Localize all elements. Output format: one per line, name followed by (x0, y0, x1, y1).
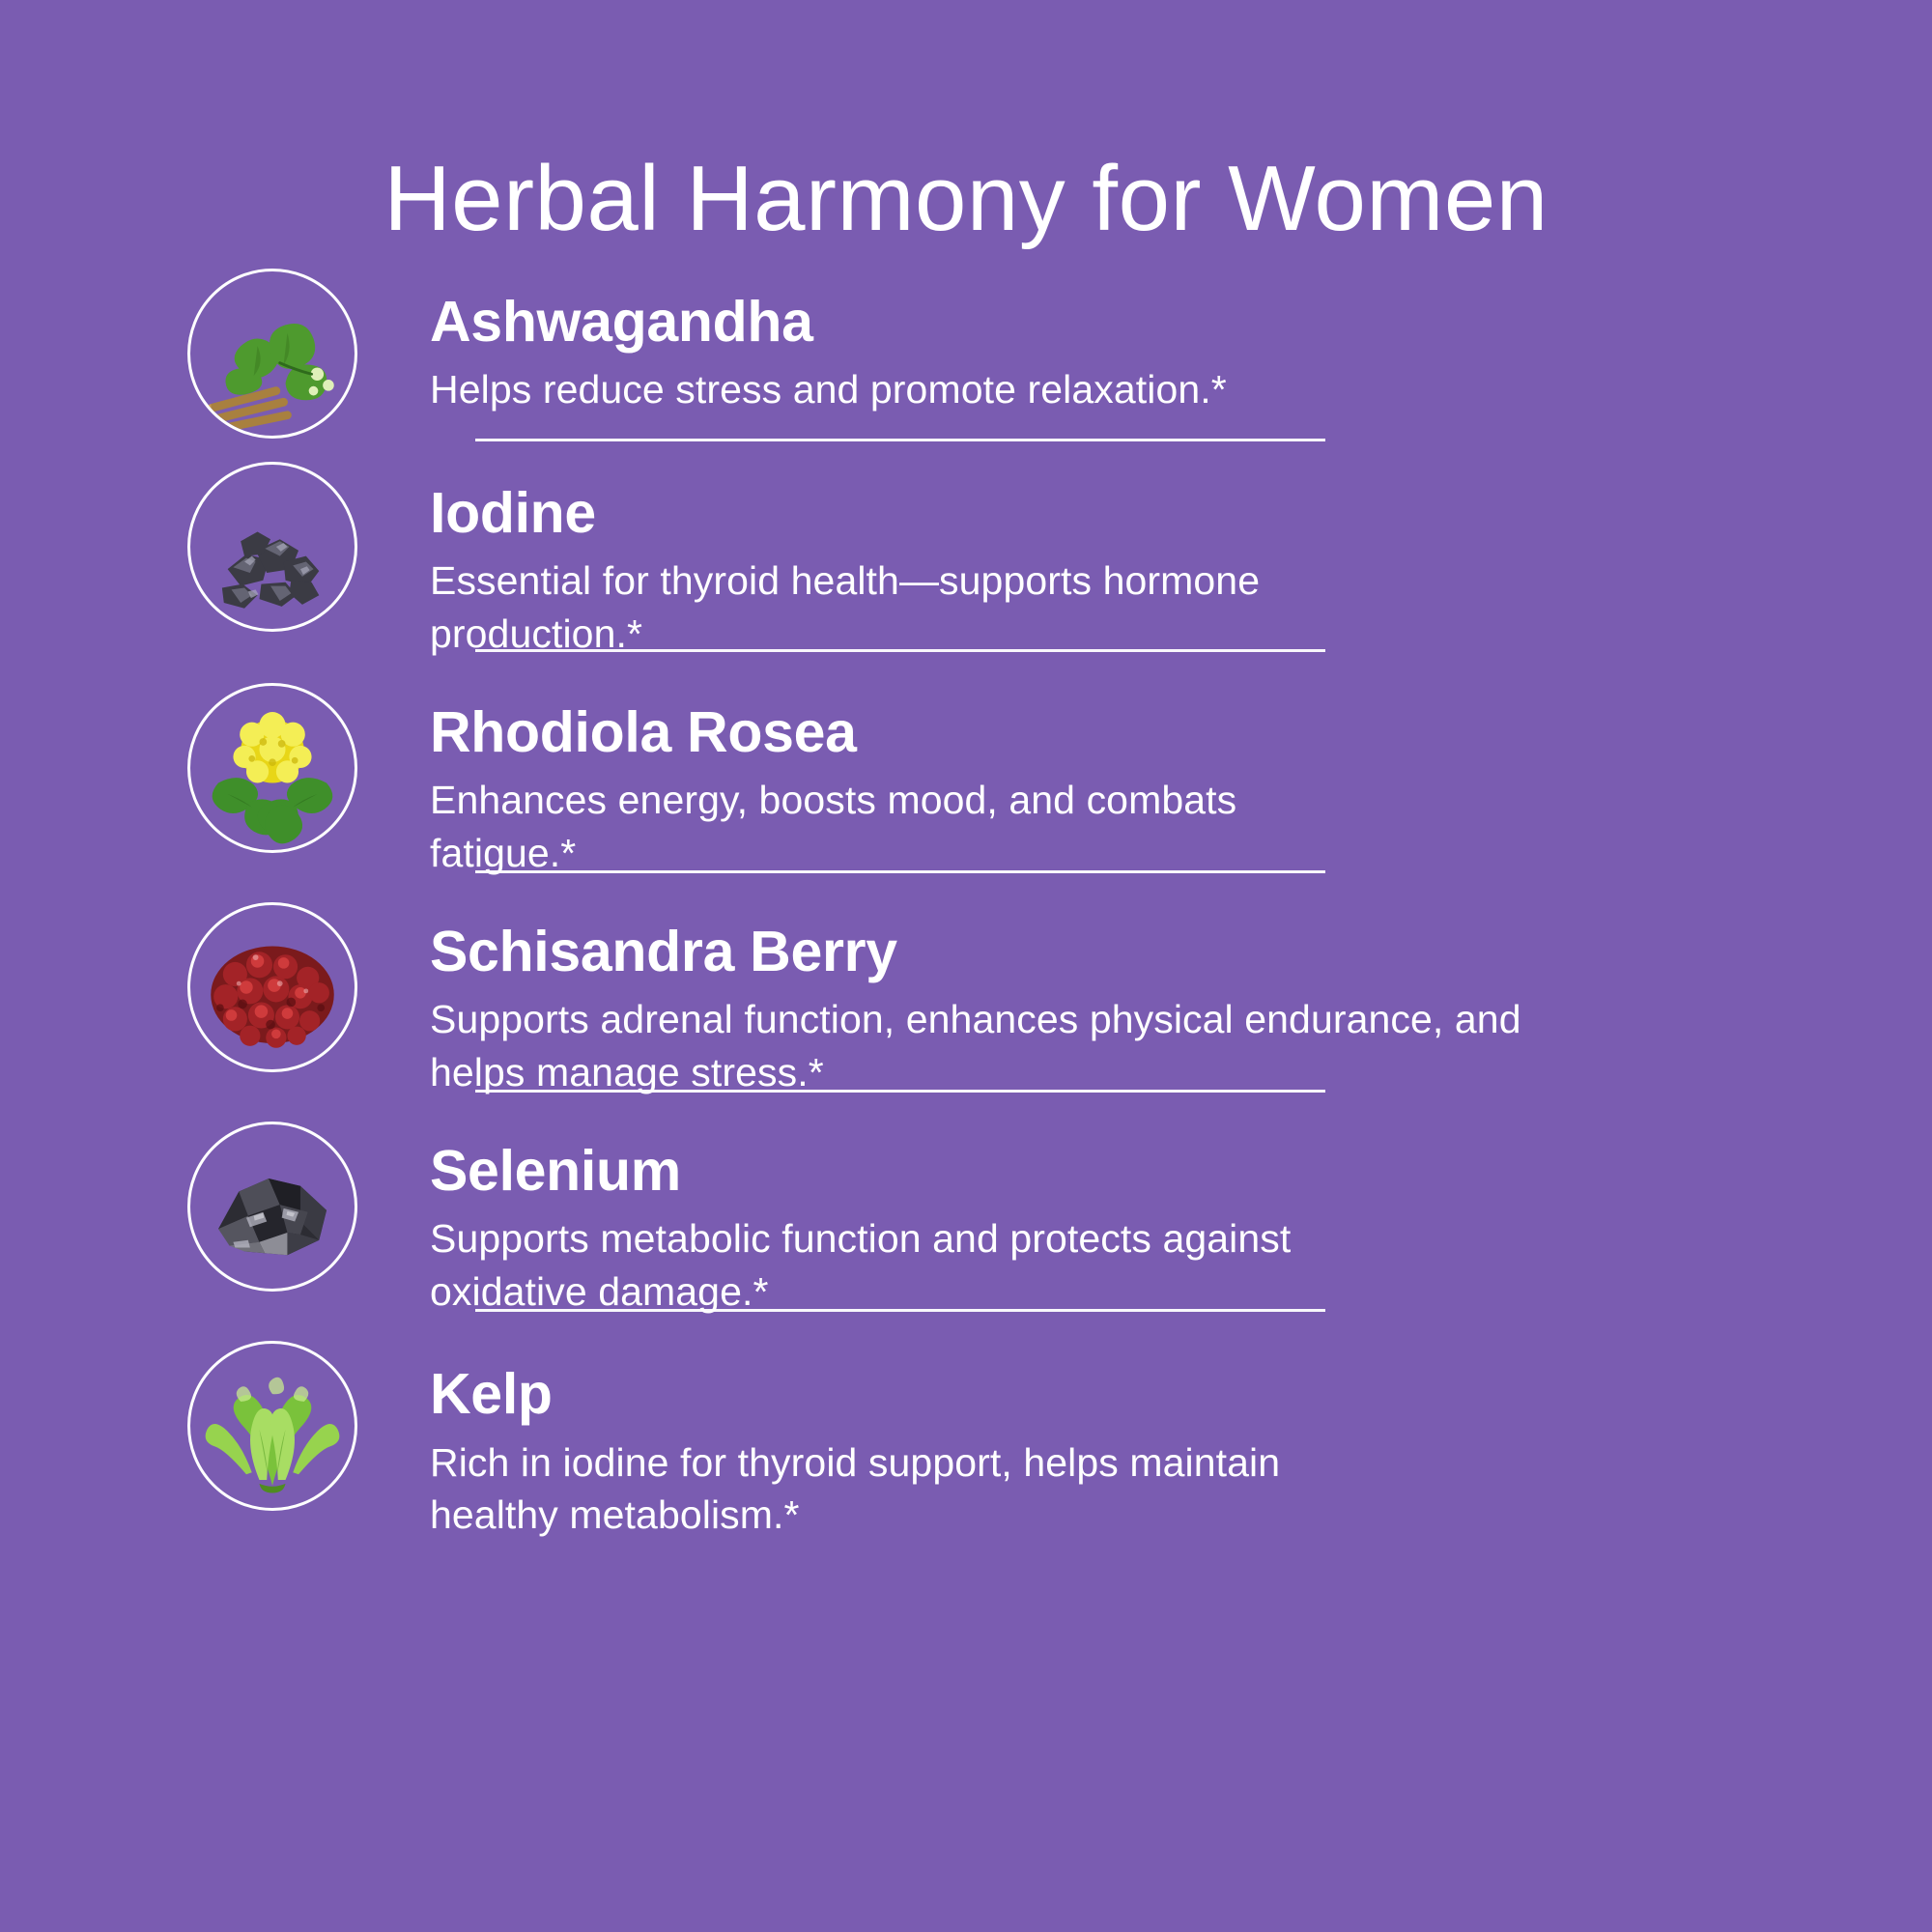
ashwagandha-art (190, 271, 355, 436)
row-divider (475, 1090, 1325, 1093)
kelp-art (190, 1344, 355, 1508)
ashwagandha-root-and-leaves-photo-icon (187, 269, 357, 439)
ingredient-icon-cell (187, 683, 357, 853)
ingredient-description: Rich in iodine for thyroid support, help… (430, 1436, 1406, 1542)
ingredient-name: Ashwagandha (430, 290, 1816, 354)
page-title: Herbal Harmony for Women (0, 151, 1932, 248)
ingredient-list: Ashwagandha Helps reduce stress and prom… (0, 269, 1932, 1542)
ingredient-name: Kelp (430, 1362, 1816, 1426)
row-divider (475, 1309, 1325, 1312)
ingredient-text-cell: Selenium Supports metabolic function and… (430, 1122, 1932, 1318)
row-divider (475, 649, 1325, 652)
rhodiola-art (190, 686, 355, 850)
ingredient-description: Helps reduce stress and promote relaxati… (430, 363, 1550, 416)
ingredient-text-cell: Kelp Rich in iodine for thyroid support,… (430, 1341, 1932, 1541)
ingredient-name: Iodine (430, 481, 1816, 545)
ingredient-text-cell: Ashwagandha Helps reduce stress and prom… (430, 269, 1932, 416)
iodine-art (190, 465, 355, 629)
ingredient-icon-cell (187, 1341, 357, 1511)
selenium-mineral-chunk-photo-icon (187, 1122, 357, 1292)
list-item: Schisandra Berry Supports adrenal functi… (0, 902, 1932, 1098)
row-divider (475, 439, 1325, 441)
schisandra-art (190, 905, 355, 1069)
iodine-crystals-photo-icon (187, 462, 357, 632)
ingredient-name: Rhodiola Rosea (430, 700, 1816, 764)
ingredient-name: Selenium (430, 1139, 1816, 1203)
ingredient-icon-cell (187, 462, 357, 632)
ingredient-text-cell: Schisandra Berry Supports adrenal functi… (430, 902, 1932, 1098)
selenium-art (190, 1124, 355, 1289)
ingredient-icon-cell (187, 1122, 357, 1292)
ingredient-name: Schisandra Berry (430, 920, 1816, 983)
schisandra-dried-red-berries-photo-icon (187, 902, 357, 1072)
list-item: Selenium Supports metabolic function and… (0, 1122, 1932, 1318)
kelp-green-seaweed-photo-icon (187, 1341, 357, 1511)
herbal-supplement-ingredient-poster: Herbal Harmony for Women (0, 0, 1932, 1932)
ingredient-icon-cell (187, 902, 357, 1072)
rhodiola-rosea-yellow-flower-photo-icon (187, 683, 357, 853)
ingredient-icon-cell (187, 269, 357, 439)
ingredient-description: Supports metabolic function and protects… (430, 1212, 1299, 1318)
list-item: Ashwagandha Helps reduce stress and prom… (0, 269, 1932, 439)
ingredient-description: Essential for thyroid health—supports ho… (430, 554, 1396, 660)
list-item: Kelp Rich in iodine for thyroid support,… (0, 1341, 1932, 1541)
ingredient-text-cell: Iodine Essential for thyroid health—supp… (430, 462, 1932, 660)
ingredient-text-cell: Rhodiola Rosea Enhances energy, boosts m… (430, 683, 1932, 879)
list-item: Iodine Essential for thyroid health—supp… (0, 462, 1932, 660)
row-divider (475, 870, 1325, 873)
ingredient-description: Enhances energy, boosts mood, and combat… (430, 774, 1386, 879)
ingredient-description: Supports adrenal function, enhances phys… (430, 993, 1550, 1098)
list-item: Rhodiola Rosea Enhances energy, boosts m… (0, 683, 1932, 879)
